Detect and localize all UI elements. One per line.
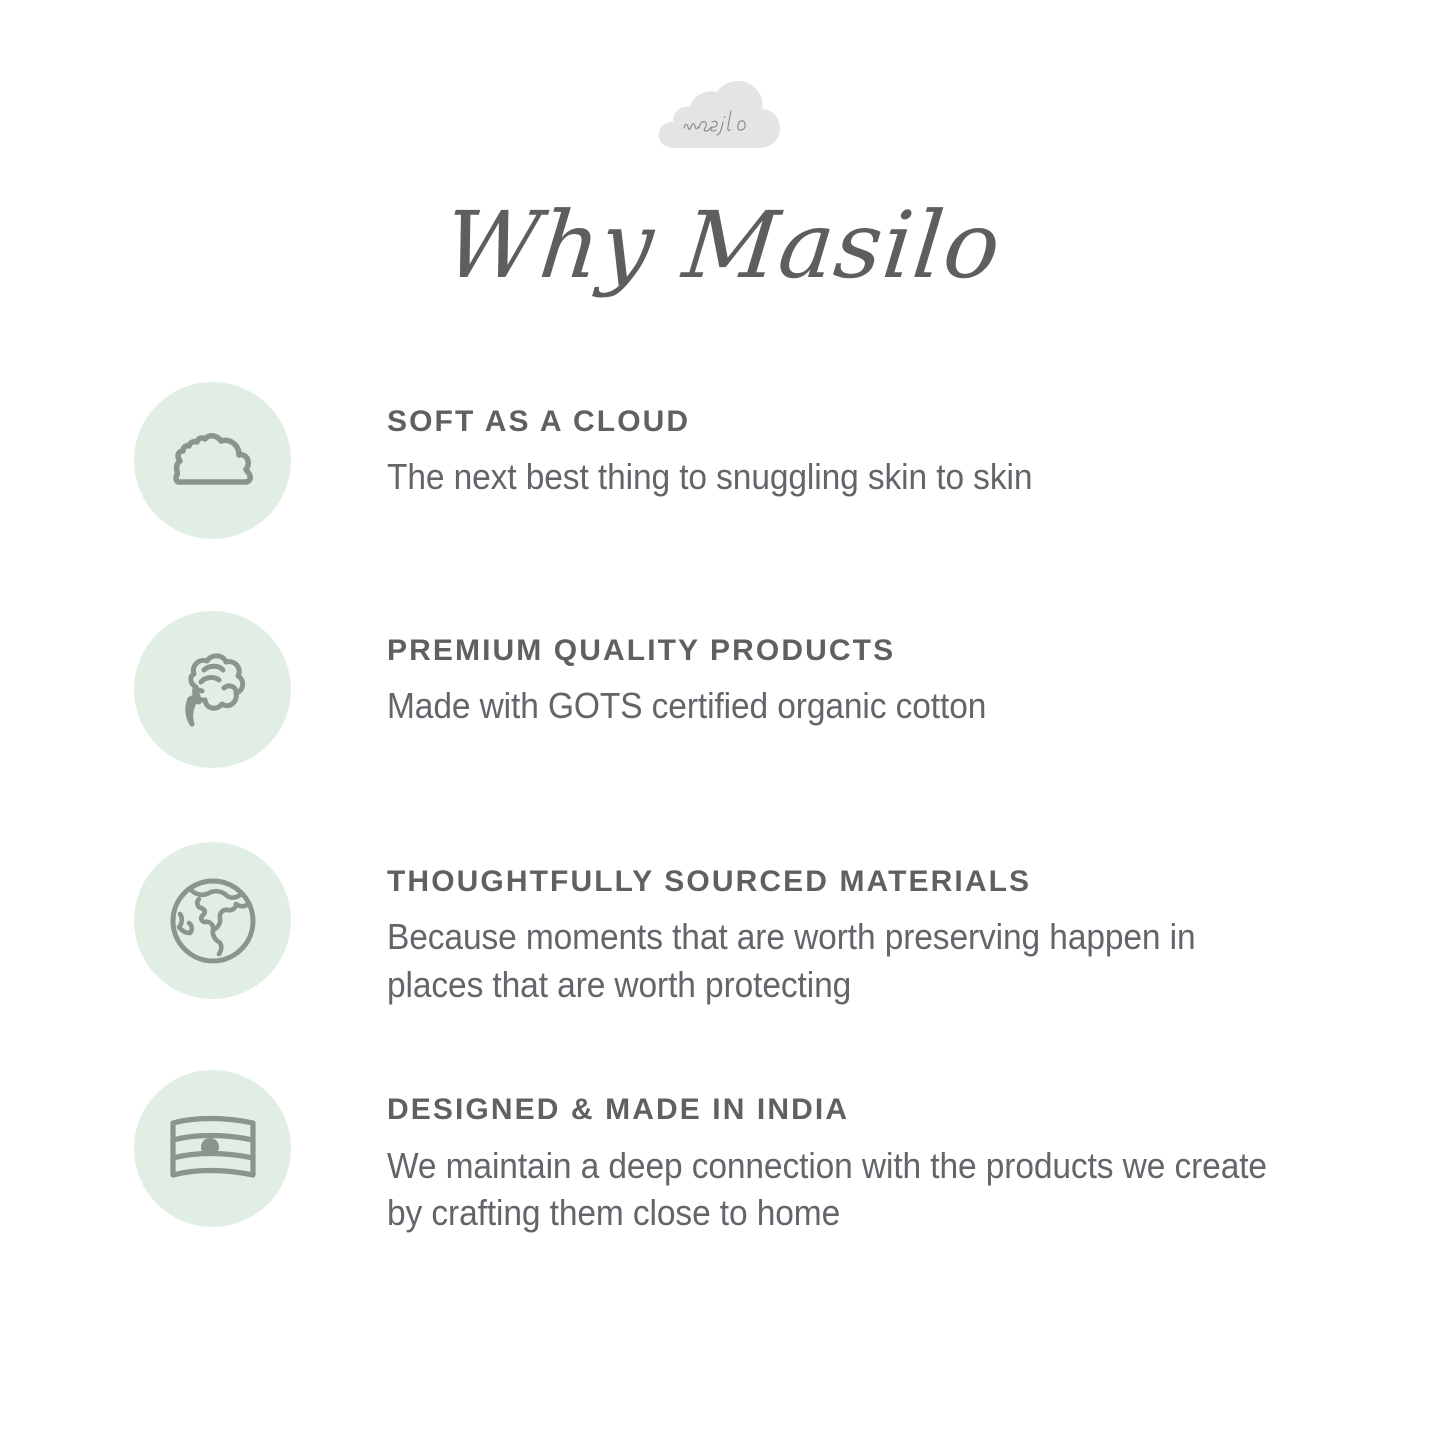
- why-masilo-page: Why Masilo SOFT AS A CLOUD The next best…: [0, 0, 1445, 1445]
- feature-text-block: SOFT AS A CLOUD The next best thing to s…: [387, 382, 1334, 501]
- feature-heading: SOFT AS A CLOUD: [387, 404, 1334, 439]
- icon-badge-cloud: [134, 382, 291, 539]
- feature-item-premium-quality-products: PREMIUM QUALITY PRODUCTS Made with GOTS …: [134, 611, 1334, 768]
- ashoka-chakra-dot: [201, 1138, 219, 1156]
- icon-badge-globe: [134, 842, 291, 999]
- feature-text-block: THOUGHTFULLY SOURCED MATERIALS Because m…: [387, 842, 1334, 1008]
- feature-description: Because moments that are worth preservin…: [387, 913, 1268, 1008]
- icon-badge-india-flag: [134, 1070, 291, 1227]
- feature-list: SOFT AS A CLOUD The next best thing to s…: [134, 382, 1334, 1237]
- india-flag-icon: [163, 1111, 263, 1187]
- feature-text-block: PREMIUM QUALITY PRODUCTS Made with GOTS …: [387, 611, 1334, 730]
- brand-logo: [0, 78, 1445, 158]
- page-title: Why Masilo: [440, 196, 1006, 295]
- feature-description: The next best thing to snuggling skin to…: [387, 453, 1268, 501]
- feature-description: We maintain a deep connection with the p…: [387, 1142, 1268, 1237]
- feature-heading: THOUGHTFULLY SOURCED MATERIALS: [387, 864, 1334, 899]
- cloud-shape: [658, 81, 779, 148]
- feature-text-block: DESIGNED & MADE IN INDIA We maintain a d…: [387, 1070, 1334, 1236]
- globe-icon: [166, 874, 260, 968]
- page-title-wrap: Why Masilo: [0, 196, 1445, 295]
- cloud-icon: [167, 422, 259, 500]
- cloud-logo-icon: [653, 78, 793, 158]
- feature-heading: PREMIUM QUALITY PRODUCTS: [387, 633, 1334, 668]
- icon-badge-cotton-boll: [134, 611, 291, 768]
- feature-item-thoughtfully-sourced-materials: THOUGHTFULLY SOURCED MATERIALS Because m…: [134, 842, 1334, 1008]
- feature-heading: DESIGNED & MADE IN INDIA: [387, 1092, 1334, 1127]
- cotton-boll-icon: [171, 644, 255, 736]
- feature-item-designed-made-in-india: DESIGNED & MADE IN INDIA We maintain a d…: [134, 1070, 1334, 1236]
- feature-item-soft-as-a-cloud: SOFT AS A CLOUD The next best thing to s…: [134, 382, 1334, 539]
- feature-description: Made with GOTS certified organic cotton: [387, 682, 1268, 730]
